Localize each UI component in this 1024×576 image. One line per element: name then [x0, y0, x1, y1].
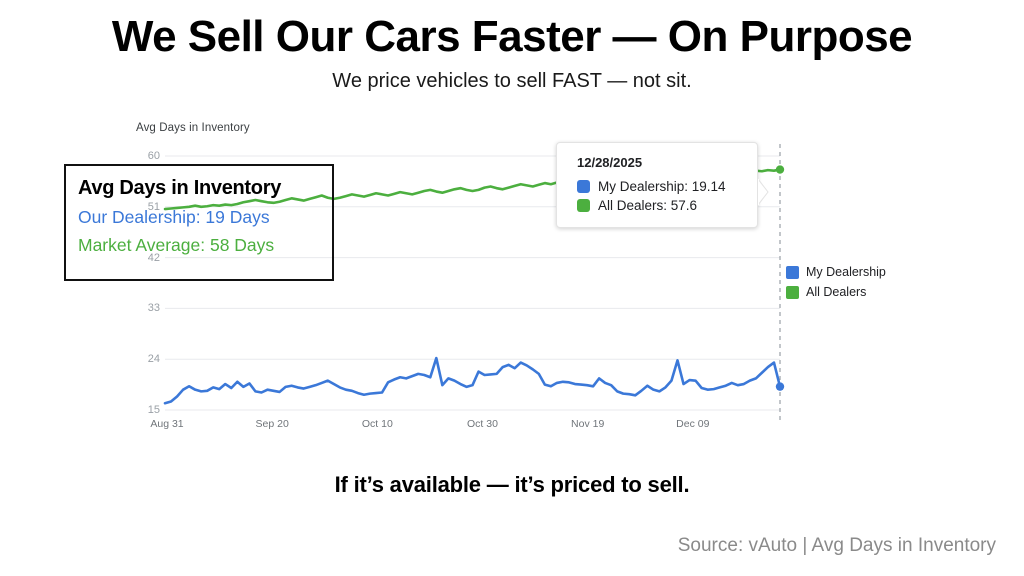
tooltip-row-all-dealers: All Dealers: 57.6: [577, 198, 743, 213]
source-attribution: Source: vAuto | Avg Days in Inventory: [678, 535, 996, 557]
legend-item-all-dealers[interactable]: All Dealers: [786, 282, 886, 302]
x-tick-label: Aug 31: [150, 418, 183, 430]
page-subtitle: We price vehicles to sell FAST — not sit…: [0, 70, 1024, 93]
tooltip-date: 12/28/2025: [577, 155, 743, 170]
callout-our-dealership: Our Dealership: 19 Days: [78, 207, 332, 228]
y-tick-label: 24: [124, 353, 160, 365]
x-tick-label: Sep 20: [256, 418, 289, 430]
closing-statement: If it’s available — it’s priced to sell.: [0, 472, 1024, 498]
chart-tooltip: 12/28/2025 My Dealership: 19.14 All Deal…: [556, 142, 758, 228]
x-tick-label: Nov 19: [571, 418, 604, 430]
legend-label-all-dealers: All Dealers: [806, 285, 866, 299]
legend-swatch-all-dealers: [786, 286, 799, 299]
tooltip-value-all-dealers: All Dealers: 57.6: [598, 198, 697, 213]
y-tick-label: 15: [124, 404, 160, 416]
x-tick-label: Oct 30: [467, 418, 498, 430]
page-title: We Sell Our Cars Faster — On Purpose: [0, 14, 1024, 61]
legend-swatch-my-dealership: [786, 266, 799, 279]
chart-legend[interactable]: My Dealership All Dealers: [786, 262, 886, 302]
legend-item-my-dealership[interactable]: My Dealership: [786, 262, 886, 282]
callout-market-average: Market Average: 58 Days: [78, 235, 332, 256]
callout-title: Avg Days in Inventory: [78, 177, 332, 200]
tooltip-swatch-my-dealership: [577, 180, 590, 193]
tooltip-swatch-all-dealers: [577, 199, 590, 212]
tooltip-pointer-icon: [758, 179, 769, 205]
tooltip-value-my-dealership: My Dealership: 19.14: [598, 179, 726, 194]
x-tick-label: Oct 10: [362, 418, 393, 430]
x-tick-label: Dec 09: [676, 418, 709, 430]
y-tick-label: 33: [124, 302, 160, 314]
y-tick-label: 60: [124, 150, 160, 162]
slide-root: We Sell Our Cars Faster — On Purpose We …: [0, 0, 1024, 576]
legend-label-my-dealership: My Dealership: [806, 265, 886, 279]
callout-box: Avg Days in Inventory Our Dealership: 19…: [64, 164, 334, 281]
tooltip-row-my-dealership: My Dealership: 19.14: [577, 179, 743, 194]
